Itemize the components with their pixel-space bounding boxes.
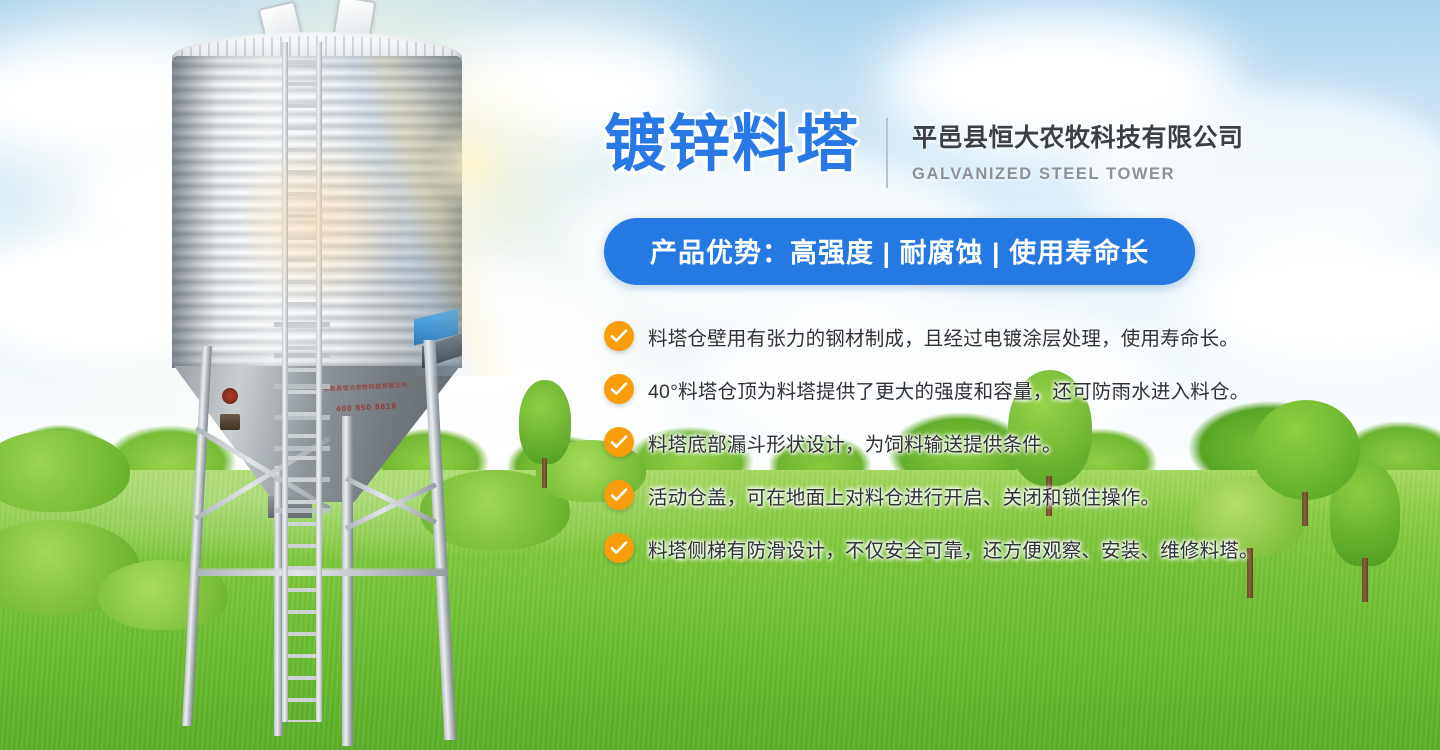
ladder-rungs: [286, 42, 318, 722]
list-item: 料塔侧梯有防滑设计，不仅安全可靠，还方便观察、安装、维修料塔。: [604, 533, 1304, 563]
ladder-rail: [316, 42, 322, 722]
advantage-pill: 产品优势：高强度 | 耐腐蚀 | 使用寿命长: [604, 218, 1195, 285]
company-subtitle-en: GALVANIZED STEEL TOWER: [912, 165, 1244, 184]
title-row: 镀锌料塔 平邑县恒大农牧科技有限公司 GALVANIZED STEEL TOWE…: [604, 112, 1304, 188]
silo-cone-marking-phone: 400 850 8819: [336, 401, 397, 413]
silo-leg: [424, 340, 457, 740]
title-divider: [886, 118, 888, 188]
list-item: 40°料塔仓顶为料塔提供了更大的强度和容量，还可防雨水进入料仓。: [604, 374, 1304, 404]
check-circle-icon: [604, 427, 634, 457]
hero-banner: 平邑县恒大农牧科技有限公司 400 850 8819 镀锌料塔: [0, 0, 1440, 750]
check-circle-icon: [604, 533, 634, 563]
check-circle-icon: [604, 374, 634, 404]
silo-valve: [222, 388, 238, 404]
silo-side-ladder: [282, 42, 322, 722]
company-name: 平邑县恒大农牧科技有限公司: [912, 118, 1244, 154]
list-item: 料塔底部漏斗形状设计，为饲料输送提供条件。: [604, 427, 1304, 457]
company-block: 平邑县恒大农牧科技有限公司 GALVANIZED STEEL TOWER: [912, 112, 1244, 184]
feature-text: 40°料塔仓顶为料塔提供了更大的强度和容量，还可防雨水进入料仓。: [648, 375, 1249, 404]
feature-text: 料塔底部漏斗形状设计，为饲料输送提供条件。: [648, 428, 1062, 457]
ladder-rail: [282, 42, 288, 722]
silo-horizontal-rail: [196, 568, 448, 571]
silo-viewport: [220, 414, 240, 430]
list-item: 活动仓盖，可在地面上对料仓进行开启、关闭和锁住操作。: [604, 480, 1304, 510]
feature-text: 料塔仓壁用有张力的钢材制成，且经过电镀涂层处理，使用寿命长。: [648, 322, 1239, 351]
silo-leg: [342, 416, 353, 746]
banner-text-panel: 镀锌料塔 平邑县恒大农牧科技有限公司 GALVANIZED STEEL TOWE…: [604, 112, 1304, 586]
feature-list: 料塔仓壁用有张力的钢材制成，且经过电镀涂层处理，使用寿命长。 40°料塔仓顶为料…: [604, 321, 1304, 563]
page-title: 镀锌料塔: [604, 112, 860, 177]
check-circle-icon: [604, 480, 634, 510]
tree: [513, 380, 577, 490]
feature-text: 活动仓盖，可在地面上对料仓进行开启、关闭和锁住操作。: [648, 481, 1160, 510]
silo-cross-brace: [345, 476, 437, 524]
check-circle-icon: [604, 321, 634, 351]
feature-text: 料塔侧梯有防滑设计，不仅安全可靠，还方便观察、安装、维修料塔。: [648, 534, 1259, 563]
list-item: 料塔仓壁用有张力的钢材制成，且经过电镀涂层处理，使用寿命长。: [604, 321, 1304, 351]
product-image-galvanized-silo: 平邑县恒大农牧科技有限公司 400 850 8819: [96, 0, 516, 750]
silo-leg: [182, 346, 212, 726]
